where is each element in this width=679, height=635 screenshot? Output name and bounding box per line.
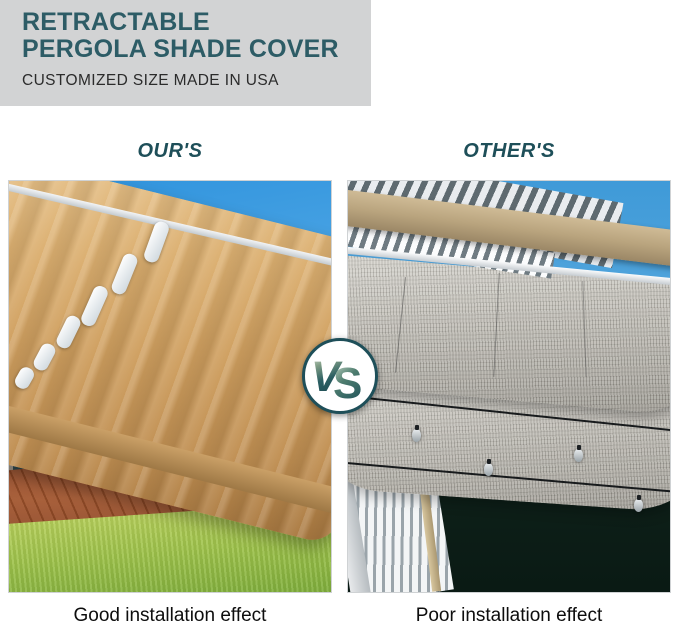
vs-badge: V S: [302, 338, 378, 414]
caption-good: Good installation effect: [0, 605, 340, 627]
page-subtitle: CUSTOMIZED SIZE MADE IN USA: [22, 72, 367, 90]
page-title: RETRACTABLE PERGOLA SHADE COVER: [22, 9, 367, 63]
label-others: OTHER'S: [339, 140, 679, 163]
photo-others: [347, 180, 671, 593]
scene-good-installation: [9, 181, 331, 592]
product-comparison-image: RETRACTABLE PERGOLA SHADE COVER CUSTOMIZ…: [0, 0, 679, 635]
light-bulb: [634, 499, 643, 512]
scene-poor-installation: [348, 181, 670, 592]
title-line-2: PERGOLA SHADE COVER: [22, 36, 367, 63]
caption-poor: Poor installation effect: [339, 605, 679, 627]
svg-text:S: S: [333, 359, 362, 408]
light-bulb: [412, 429, 421, 442]
label-ours: OUR'S: [0, 140, 340, 163]
light-bulb: [574, 449, 583, 462]
title-line-1: RETRACTABLE: [22, 8, 210, 36]
header-banner: RETRACTABLE PERGOLA SHADE COVER CUSTOMIZ…: [0, 0, 371, 106]
light-bulb: [484, 463, 493, 476]
photo-ours: [8, 180, 332, 593]
